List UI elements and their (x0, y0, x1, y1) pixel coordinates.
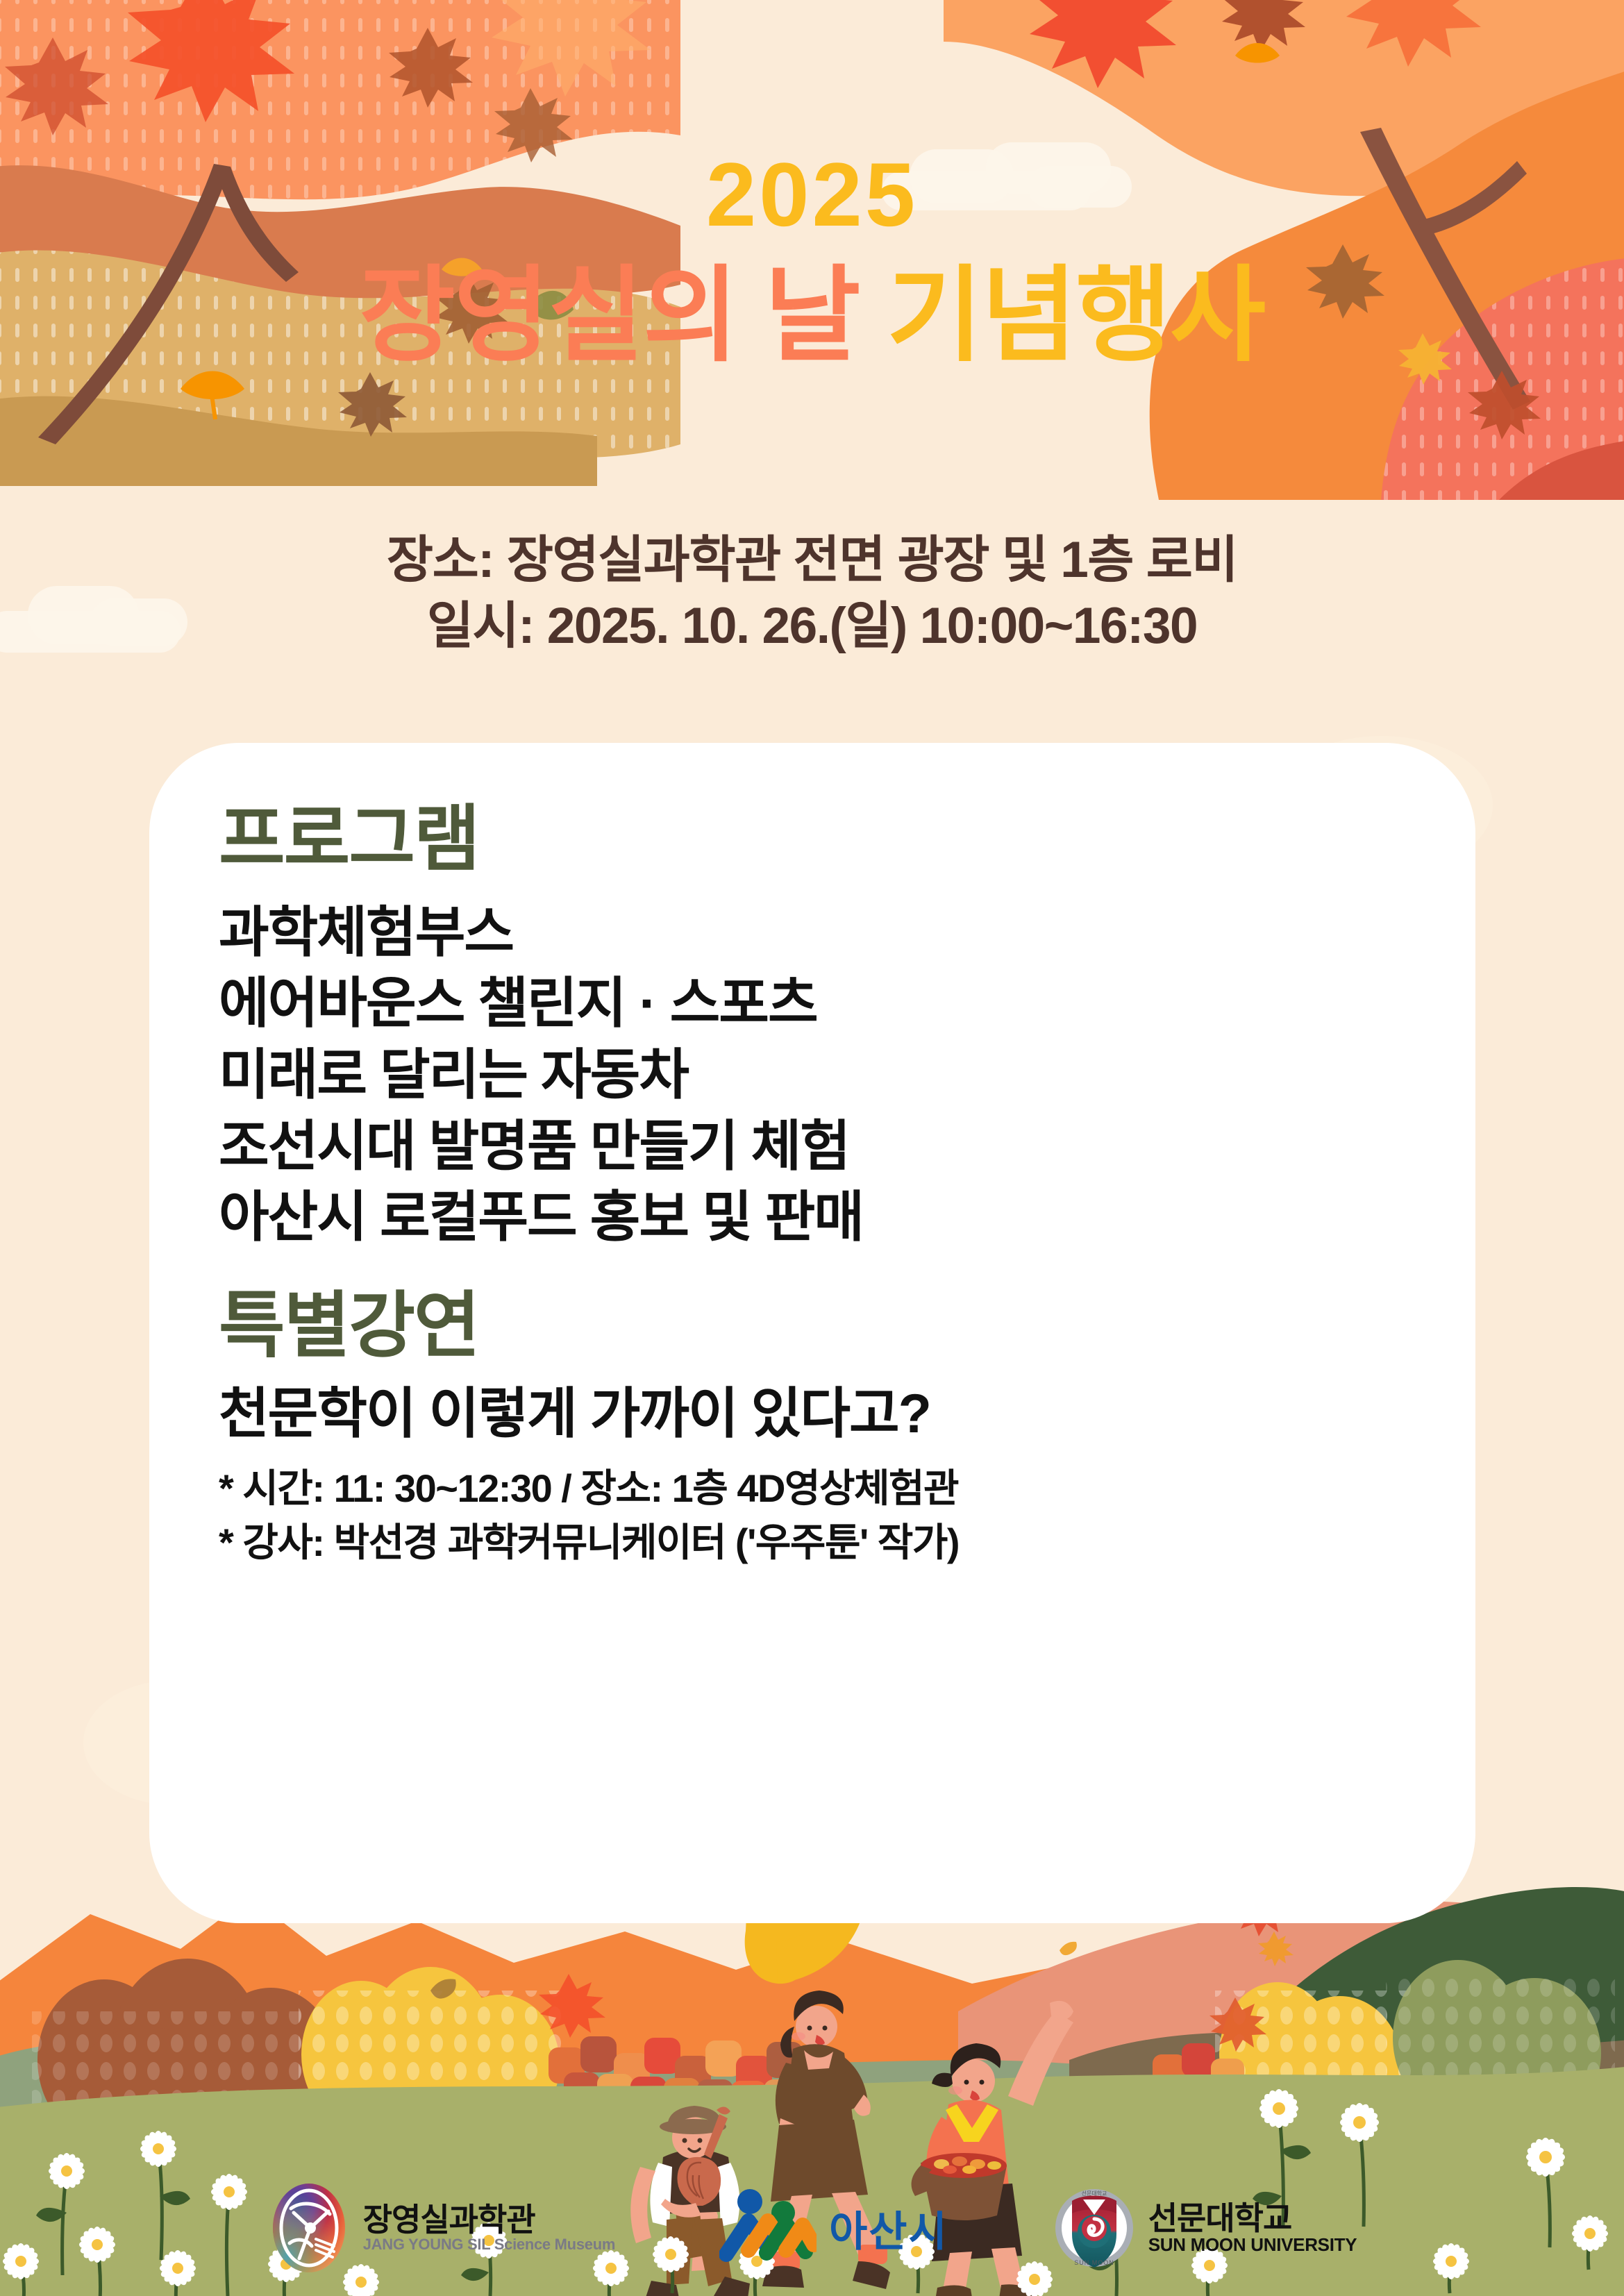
asan-chevron-icon (719, 2186, 817, 2270)
sundial-gradient-icon (267, 2179, 351, 2277)
logo-label-kr: 아산시 (829, 2198, 948, 2259)
poster-year: 2025 (0, 149, 1624, 240)
poster-root: 2025 장영실의 날 기념행사 장소: 장영실과학관 전면 광장 및 1층 로… (0, 0, 1624, 2296)
title-gold-part: 기념행사 (887, 257, 1264, 374)
venue-line: 장소: 장영실과학관 전면 광장 및 1층 로비 (0, 528, 1624, 594)
logo-asan-city: 아산시 (719, 2186, 948, 2270)
maple-leaf-icon (389, 28, 473, 108)
list-item: 과학체험부스 (219, 897, 1427, 969)
lecture-heading: 특별강연 (219, 1285, 1427, 1368)
logo-label-kr: 장영실과학관 (363, 2203, 615, 2236)
svg-text:SUN MOON: SUN MOON (1074, 2259, 1114, 2266)
list-item: 에어바운스 챌린지 · 스포츠 (219, 968, 1427, 1039)
lecture-block: 천문학이 이렇게 가까이 있다고? * 시간: 11: 30~12:30 / 장… (219, 1380, 1427, 1569)
list-item: 아산시 로컬푸드 홍보 및 판매 (219, 1182, 1427, 1253)
lecture-time-note: * 시간: 11: 30~12:30 / 장소: 1층 4D영상체험관 (219, 1461, 1427, 1515)
list-item: 미래로 달리는 자동차 (219, 1039, 1427, 1111)
content-card-body: 프로그램 과학체험부스 에어바운스 챌린지 · 스포츠 미래로 달리는 자동차 … (219, 798, 1427, 1569)
logo-jang-young-sil-museum: 장영실과학관 JANG YOUNG SIL Science Museum (267, 2179, 615, 2277)
title-coral-part: 장영실의 날 (360, 257, 860, 374)
program-list: 과학체험부스 에어바운스 챌린지 · 스포츠 미래로 달리는 자동차 조선시대 … (219, 897, 1427, 1253)
page-title: 장영실의 날 기념행사 (0, 257, 1624, 374)
maple-leaf-icon (5, 37, 108, 135)
program-heading: 프로그램 (219, 798, 1427, 882)
logo-sun-moon-university: 선문대학교 SUN MOON 선문대학교 SUN MOON UNIVERSITY (1053, 2184, 1357, 2272)
logo-label-en: SUN MOON UNIVERSITY (1148, 2235, 1357, 2255)
autumn-decor-top-right (944, 0, 1624, 500)
event-meta: 장소: 장영실과학관 전면 광장 및 1층 로비 일시: 2025. 10. 2… (0, 528, 1624, 660)
ginkgo-leaf-icon (181, 371, 244, 420)
list-item: 조선시대 발명품 만들기 체험 (219, 1111, 1427, 1182)
logo-label-kr: 선문대학교 (1148, 2202, 1357, 2235)
footer-logo-bar: 장영실과학관 JANG YOUNG SIL Science Museum 아산시 (0, 2172, 1624, 2284)
datetime-line: 일시: 2025. 10. 26.(일) 10:00~16:30 (0, 594, 1624, 660)
lecture-title: 천문학이 이렇게 가까이 있다고? (219, 1380, 1427, 1448)
logo-label-en: JANG YOUNG SIL Science Museum (363, 2236, 615, 2253)
shield-crest-icon: 선문대학교 SUN MOON (1053, 2184, 1136, 2272)
maple-leaf-icon (128, 0, 294, 122)
lecture-speaker-note: * 강사: 박선경 과학커뮤니케이터 ('우주툰' 작가) (219, 1516, 1427, 1569)
svg-text:선문대학교: 선문대학교 (1081, 2190, 1107, 2197)
autumn-decor-top-left (0, 0, 680, 486)
